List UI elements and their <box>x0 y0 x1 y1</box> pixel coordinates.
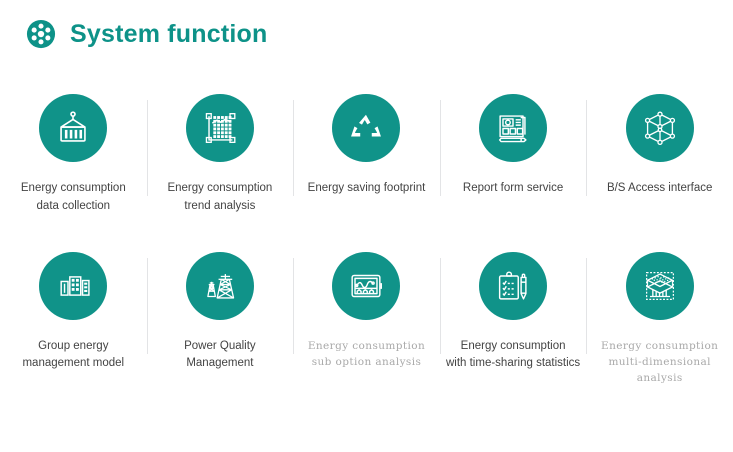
page-title: System function <box>70 22 267 47</box>
shipping-container-crane-icon <box>52 107 94 149</box>
function-item-energy-consumption-time-sharing-statistics[interactable]: Energy consumption with time-sharing sta… <box>440 252 587 387</box>
function-item-label: Energy consumption data collection <box>21 180 126 216</box>
function-item-energy-saving-footprint[interactable]: Energy saving footprint <box>293 94 440 216</box>
multi-dimensional-data-icon <box>639 265 681 307</box>
icon-badge <box>186 94 254 162</box>
function-item-label: Energy consumption sub option analysis <box>308 338 425 371</box>
function-item-energy-consumption-data-collection[interactable]: Energy consumption data collection <box>0 94 147 216</box>
function-item-label: Power Quality Management <box>184 338 256 374</box>
function-item-energy-consumption-multi-dimensional-analysis[interactable]: Energy consumption multi-dimensional ana… <box>586 252 733 387</box>
icon-badge <box>332 252 400 320</box>
function-grid: Energy consumption data collection <box>0 94 733 386</box>
function-item-label: Group energy management model <box>22 338 124 374</box>
function-item-bs-access-interface[interactable]: B/S Access interface <box>586 94 733 216</box>
recycle-icon <box>346 108 386 148</box>
icon-badge <box>626 252 694 320</box>
function-item-report-form-service[interactable]: Report form service <box>440 94 587 216</box>
icon-badge <box>479 252 547 320</box>
function-item-label: Report form service <box>463 180 563 198</box>
tablet-wave-chart-icon <box>345 265 387 307</box>
function-item-energy-consumption-sub-option-analysis[interactable]: Energy consumption sub option analysis <box>293 252 440 387</box>
function-item-label: B/S Access interface <box>607 180 712 198</box>
function-item-label: Energy consumption with time-sharing sta… <box>446 338 580 374</box>
function-item-label: Energy consumption multi-dimensional ana… <box>590 338 729 387</box>
report-document-pencil-icon <box>492 107 534 149</box>
function-item-group-energy-management-model[interactable]: Group energy management model <box>0 252 147 387</box>
clipboard-checklist-pen-icon <box>492 265 534 307</box>
page-header: System function <box>0 0 733 56</box>
icon-badge <box>479 94 547 162</box>
function-item-power-quality-management[interactable]: Power Quality Management <box>147 252 294 387</box>
function-item-label: Energy consumption trend analysis <box>167 180 272 216</box>
grid-trend-chart-icon <box>199 107 241 149</box>
icon-badge <box>186 252 254 320</box>
cube-network-icon <box>639 107 681 149</box>
settings-dots-icon <box>26 19 56 49</box>
function-row: Energy consumption data collection <box>0 94 733 216</box>
icon-badge <box>39 252 107 320</box>
buildings-group-icon <box>53 266 93 306</box>
icon-badge <box>39 94 107 162</box>
icon-badge <box>332 94 400 162</box>
icon-badge <box>626 94 694 162</box>
function-item-energy-consumption-trend-analysis[interactable]: Energy consumption trend analysis <box>147 94 294 216</box>
function-item-label: Energy saving footprint <box>308 180 426 198</box>
power-transmission-tower-icon <box>199 265 241 307</box>
function-row: Group energy management model <box>0 252 733 387</box>
